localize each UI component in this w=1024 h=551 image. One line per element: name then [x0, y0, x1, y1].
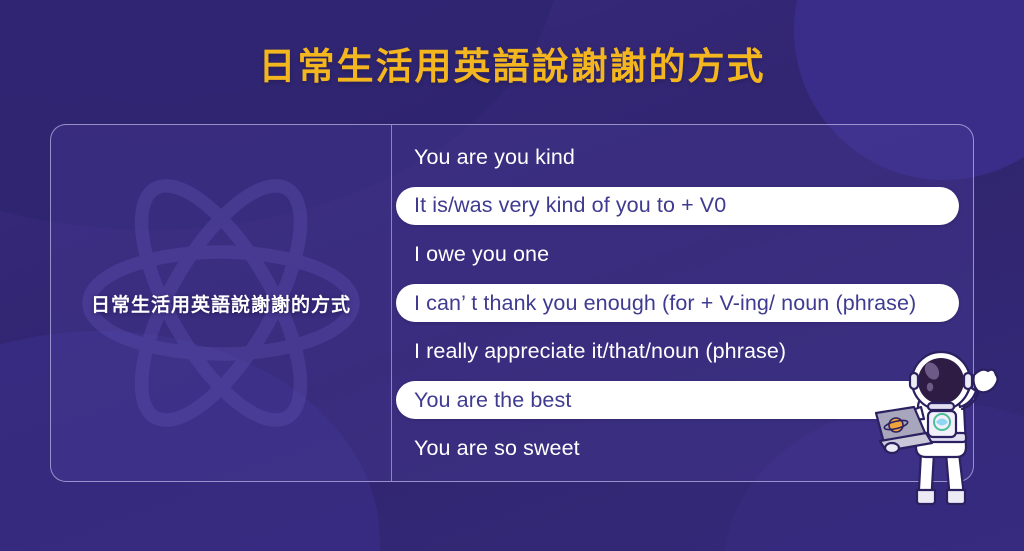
phrase-list: You are you kind It is/was very kind of …: [392, 125, 973, 481]
panel-left-label: 日常生活用英語說謝謝的方式: [91, 290, 351, 317]
phrase-row[interactable]: I can’ t thank you enough (for + V-ing/ …: [396, 284, 959, 323]
phrase-row[interactable]: I really appreciate it/that/noun (phrase…: [392, 332, 965, 371]
phrase-row[interactable]: You are the best: [396, 381, 959, 420]
phrase-row[interactable]: You are you kind: [392, 138, 965, 177]
phrase-row[interactable]: You are so sweet: [392, 429, 965, 468]
panel-left-column: 日常生活用英語說謝謝的方式: [51, 125, 392, 481]
slide-canvas: 日常生活用英語說謝謝的方式 日常生活用英語說謝謝的方式 You are you …: [0, 0, 1024, 551]
phrase-row[interactable]: I owe you one: [392, 235, 965, 274]
phrase-row[interactable]: It is/was very kind of you to + V0: [396, 187, 959, 226]
content-panel: 日常生活用英語說謝謝的方式 You are you kind It is/was…: [50, 124, 974, 482]
slide-title: 日常生活用英語說謝謝的方式: [0, 46, 1024, 89]
